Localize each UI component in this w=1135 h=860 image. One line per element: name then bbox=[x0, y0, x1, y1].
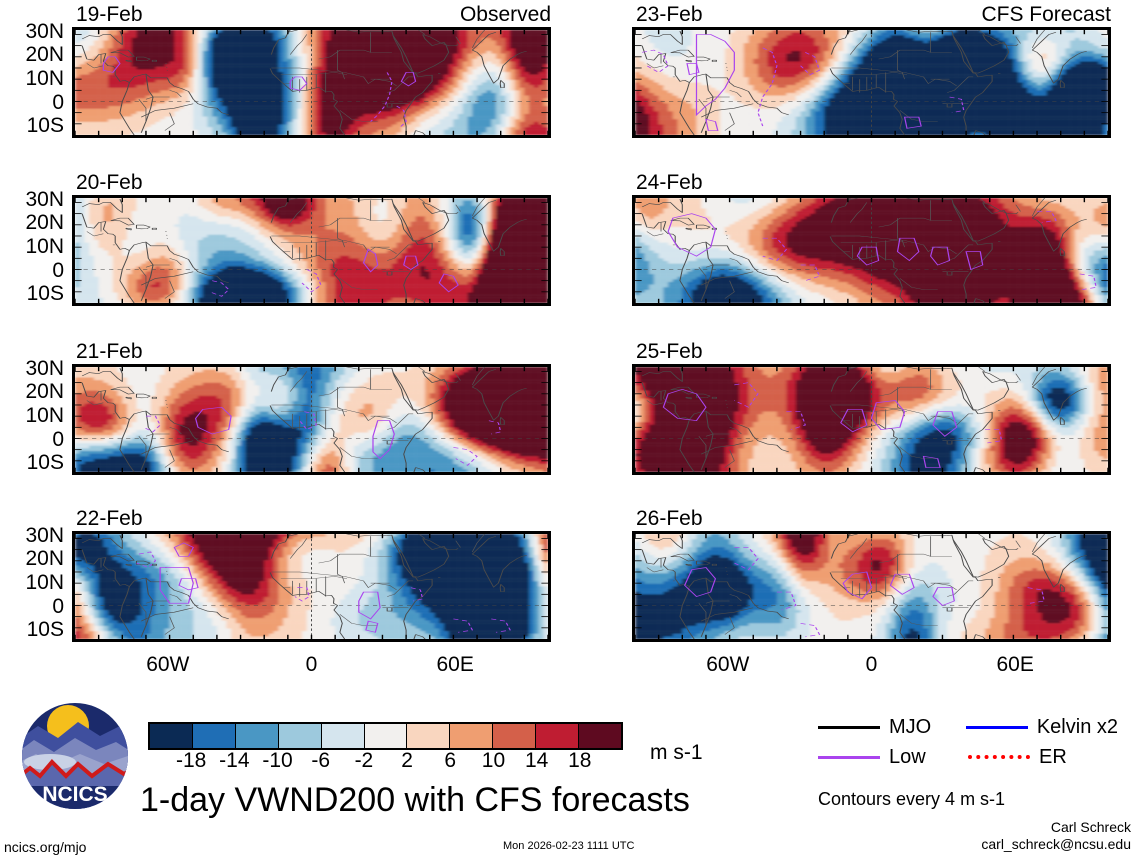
contour-interval-note: Contours every 4 m s-1 bbox=[818, 790, 1005, 808]
colorbar-tick: 10 bbox=[482, 750, 505, 771]
legend-label-kelvin: Kelvin x2 bbox=[1037, 717, 1118, 737]
y-axis-tick-label: 20N bbox=[0, 212, 64, 233]
y-axis-tick-label: 30N bbox=[0, 525, 64, 546]
x-axis-tick-label: 60E bbox=[965, 654, 1065, 675]
run-timestamp: Mon 2026-02-23 1111 UTC bbox=[503, 841, 634, 852]
map-field bbox=[635, 198, 1108, 303]
map-panel bbox=[72, 364, 551, 475]
map-field bbox=[75, 30, 548, 135]
map-panel bbox=[632, 531, 1111, 642]
legend-line-mjo bbox=[818, 726, 880, 729]
panel-date-label: 21-Feb bbox=[76, 341, 143, 362]
colorbar-segment bbox=[579, 724, 621, 748]
y-axis-tick-label: 30N bbox=[0, 189, 64, 210]
map-panel bbox=[72, 195, 551, 306]
colorbar-tick: -10 bbox=[262, 750, 292, 771]
x-axis-tick-label: 60W bbox=[678, 654, 778, 675]
colorbar-segment bbox=[536, 724, 579, 748]
colorbar-segment bbox=[407, 724, 450, 748]
colorbar-segment bbox=[450, 724, 493, 748]
colorbar-segment bbox=[236, 724, 279, 748]
colorbar-segment bbox=[193, 724, 236, 748]
logo-text: NCICS bbox=[42, 783, 107, 806]
ncics-logo: NCICS bbox=[20, 702, 130, 810]
y-axis-tick-label: 20N bbox=[0, 381, 64, 402]
panel-date-label: 20-Feb bbox=[76, 172, 143, 193]
colorbar-segment bbox=[322, 724, 365, 748]
y-axis-tick-label: 0 bbox=[0, 92, 64, 113]
x-axis-tick-label: 60W bbox=[118, 654, 218, 675]
legend-row: MJO Kelvin x2 bbox=[818, 712, 1118, 742]
y-axis-tick-label: 10N bbox=[0, 68, 64, 89]
legend-row: Low ER bbox=[818, 742, 1118, 772]
site-url: ncics.org/mjo bbox=[4, 840, 86, 854]
map-field bbox=[635, 30, 1108, 135]
contour-legend: MJO Kelvin x2 Low ER bbox=[818, 712, 1118, 772]
map-panel bbox=[632, 195, 1111, 306]
map-panel bbox=[72, 531, 551, 642]
y-axis-tick-label: 10S bbox=[0, 619, 64, 640]
x-axis-tick-label: 60E bbox=[405, 654, 505, 675]
y-axis-tick-label: 10S bbox=[0, 115, 64, 136]
colorbar-tick: 6 bbox=[444, 750, 456, 771]
y-axis-tick-label: 10N bbox=[0, 405, 64, 426]
author-email: carl_schreck@ncsu.edu bbox=[981, 836, 1131, 853]
legend-line-low bbox=[818, 756, 880, 759]
panel-date-label: 22-Feb bbox=[76, 508, 143, 529]
legend-item-kelvin: Kelvin x2 bbox=[966, 717, 1118, 737]
y-axis-tick-label: 10N bbox=[0, 236, 64, 257]
legend-item-mjo: MJO bbox=[818, 717, 966, 737]
legend-item-er: ER bbox=[968, 747, 1118, 767]
y-axis-tick-label: 20N bbox=[0, 548, 64, 569]
colorbar-tick: -6 bbox=[311, 750, 330, 771]
y-axis-tick-label: 30N bbox=[0, 358, 64, 379]
colorbar-tick: -14 bbox=[219, 750, 249, 771]
x-axis-tick-label: 0 bbox=[262, 654, 362, 675]
colorbar-tick-labels: -18-14-10-6-226101418 bbox=[148, 750, 623, 776]
map-panel bbox=[632, 364, 1111, 475]
colorbar-tick: 14 bbox=[525, 750, 548, 771]
colorbar-segment bbox=[365, 724, 408, 748]
legend-label-low: Low bbox=[889, 747, 926, 767]
panel-date-label: 26-Feb bbox=[636, 508, 703, 529]
y-axis-tick-label: 10S bbox=[0, 283, 64, 304]
colorbar-segment bbox=[279, 724, 322, 748]
y-axis-tick-label: 0 bbox=[0, 596, 64, 617]
map-field bbox=[75, 534, 548, 639]
colorbar-unit-label: m s-1 bbox=[650, 742, 703, 763]
colorbar-tick: 18 bbox=[568, 750, 591, 771]
y-axis-tick-label: 0 bbox=[0, 260, 64, 281]
map-field bbox=[75, 198, 548, 303]
map-field bbox=[635, 534, 1108, 639]
y-axis-tick-label: 10N bbox=[0, 572, 64, 593]
colorbar-tick: -2 bbox=[355, 750, 374, 771]
x-axis-tick-label: 0 bbox=[822, 654, 922, 675]
legend-label-er: ER bbox=[1039, 747, 1067, 767]
map-field bbox=[75, 367, 548, 472]
map-field bbox=[635, 367, 1108, 472]
y-axis-tick-label: 20N bbox=[0, 44, 64, 65]
column-header: Observed bbox=[72, 4, 551, 25]
panel-date-label: 24-Feb bbox=[636, 172, 703, 193]
y-axis-tick-label: 30N bbox=[0, 21, 64, 42]
colorbar-tick: 2 bbox=[401, 750, 413, 771]
map-panel bbox=[632, 27, 1111, 138]
colorbar-tick: -18 bbox=[176, 750, 206, 771]
colorbar-segment bbox=[493, 724, 536, 748]
panel-date-label: 25-Feb bbox=[636, 341, 703, 362]
author-credit: Carl Schreck carl_schreck@ncsu.edu bbox=[981, 819, 1131, 853]
ncics-logo-svg: NCICS bbox=[20, 702, 130, 810]
colorbar bbox=[148, 722, 623, 750]
y-axis-tick-label: 10S bbox=[0, 452, 64, 473]
legend-line-kelvin bbox=[966, 726, 1028, 729]
legend-label-mjo: MJO bbox=[889, 717, 931, 737]
author-name: Carl Schreck bbox=[981, 819, 1131, 836]
column-header: CFS Forecast bbox=[632, 4, 1111, 25]
page-title: 1-day VWND200 with CFS forecasts bbox=[140, 783, 690, 817]
y-axis-tick-label: 0 bbox=[0, 429, 64, 450]
map-panel bbox=[72, 27, 551, 138]
legend-line-er bbox=[968, 755, 1030, 759]
legend-item-low: Low bbox=[818, 747, 968, 767]
colorbar-segment bbox=[150, 724, 193, 748]
